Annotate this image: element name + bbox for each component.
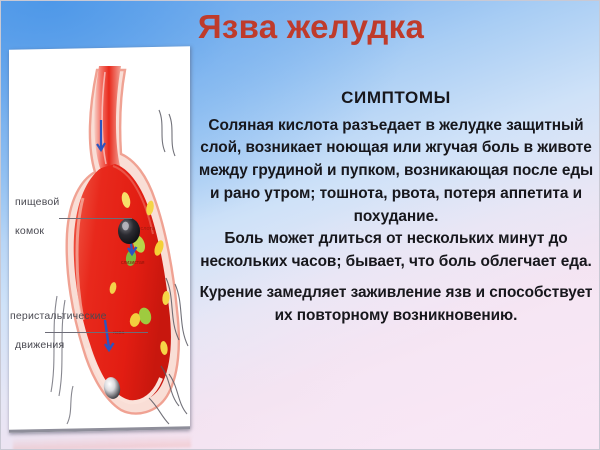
label-bolus-line2: комок (15, 225, 44, 237)
label-peristalsis-line2: движения (15, 339, 64, 351)
label-bolus-line1: пищевой (15, 196, 59, 208)
symptoms-text-block: СИМПТОМЫ Соляная кислота разъедает в жел… (197, 85, 595, 328)
symptoms-paragraph-1: Соляная кислота разъедает в желудке защи… (197, 115, 595, 229)
page-title: Язва желудка (161, 7, 461, 47)
food-bolus (118, 218, 140, 244)
illustration-panel: кислота язва слизистая (9, 46, 190, 432)
leader-line-peristalsis (45, 332, 148, 333)
presentation-slide: Язва желудка (0, 0, 600, 450)
label-peristalsis-line1: перистальтические (10, 310, 107, 322)
symptoms-paragraph-3: Курение замедляет заживление язв и спосо… (197, 282, 595, 328)
food-bolus-highlight (122, 222, 129, 231)
symptoms-heading: СИМПТОМЫ (197, 85, 595, 111)
symptoms-paragraph-2: Боль может длиться от нескольких минут д… (197, 228, 595, 274)
internal-annotation: язва (113, 330, 125, 336)
internal-annotation: слизистая (121, 260, 145, 266)
stomach-diagram-icon: кислота язва слизистая (9, 48, 190, 428)
leader-line-bolus (59, 218, 132, 219)
